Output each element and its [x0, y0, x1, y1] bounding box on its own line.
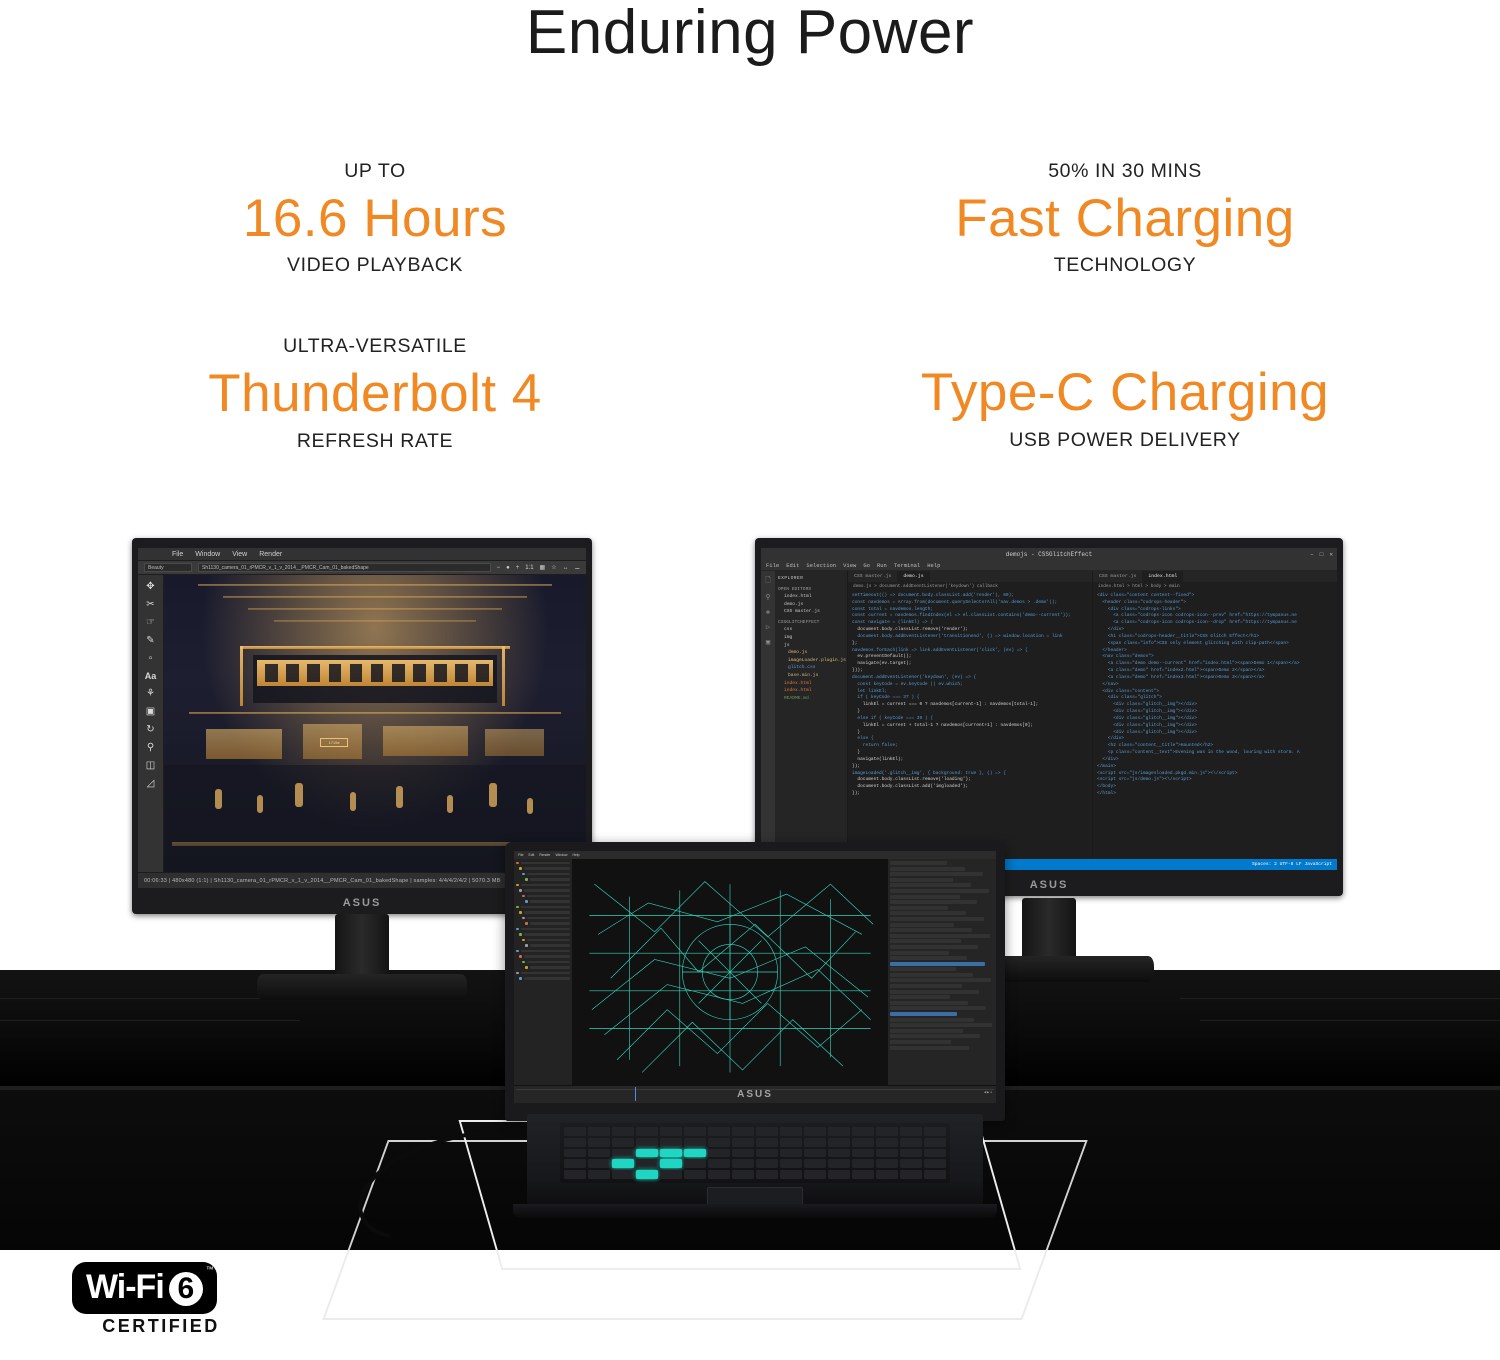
property-row[interactable]: [890, 1034, 980, 1038]
keyboard-key[interactable]: [612, 1138, 634, 1147]
outliner-item[interactable]: [516, 955, 570, 959]
keyboard-key[interactable]: [804, 1149, 826, 1158]
outliner-item[interactable]: [516, 949, 570, 953]
source-control-icon[interactable]: ❖: [766, 608, 770, 617]
outliner-item-label: [527, 895, 571, 898]
code-line: <div class="glitch__img"></div>: [1097, 716, 1333, 723]
grid-icon[interactable]: ▦: [540, 564, 546, 571]
outliner-item[interactable]: [516, 894, 570, 898]
keyboard-key[interactable]: [924, 1159, 946, 1168]
outliner-item[interactable]: [516, 927, 570, 931]
code-line: const navdemos = Array.from(document.que…: [852, 600, 1088, 607]
wifi-generation-number: 6: [169, 1272, 203, 1306]
menu-view[interactable]: View: [232, 551, 247, 558]
keyboard-key[interactable]: [924, 1149, 946, 1158]
text-tool-icon[interactable]: Aa: [145, 671, 157, 681]
property-row[interactable]: [890, 934, 990, 938]
outliner-item[interactable]: [516, 933, 570, 937]
property-row[interactable]: [890, 1040, 951, 1044]
outliner-item[interactable]: [516, 883, 570, 887]
explorer-open-item[interactable]: demo.js: [778, 601, 844, 609]
explorer-open-item[interactable]: index.html: [778, 593, 844, 601]
keyboard-key[interactable]: [660, 1159, 682, 1168]
keyboard-key[interactable]: [612, 1159, 634, 1168]
property-row[interactable]: [890, 928, 972, 932]
outliner-item[interactable]: [516, 960, 570, 964]
3d-app-menubar[interactable]: File Edit Render Window Help: [514, 851, 996, 859]
feature-battery-life: UP TO 16.6 Hours VIDEO PLAYBACK: [0, 160, 750, 277]
property-row[interactable]: [890, 883, 971, 887]
feature-battery-life-bottomlabel: VIDEO PLAYBACK: [0, 254, 750, 277]
keyboard-key[interactable]: [900, 1127, 922, 1136]
plus-icon[interactable]: +: [516, 565, 520, 571]
keyboard-key[interactable]: [636, 1127, 658, 1136]
editor-tabs-left[interactable]: CSS master.js demo.js: [848, 571, 1092, 582]
property-row[interactable]: [890, 945, 978, 949]
keyboard-key[interactable]: [732, 1138, 754, 1147]
feature-thunderbolt: ULTRA-VERSATILE Thunderbolt 4 REFRESH RA…: [0, 335, 750, 452]
outliner-item[interactable]: [516, 977, 570, 981]
laptop-lid: File Edit Render Window Help: [505, 842, 1005, 1121]
editor-pane-right[interactable]: CSS master.js index.html index.html > ht…: [1092, 571, 1337, 859]
minimize-icon[interactable]: –: [1310, 551, 1314, 558]
menu-file[interactable]: File: [518, 853, 523, 857]
keyboard-key[interactable]: [756, 1149, 778, 1158]
tab-css-master-2[interactable]: CSS master.js: [1093, 571, 1142, 582]
keyboard-key[interactable]: [756, 1127, 778, 1136]
menu-edit[interactable]: Edit: [786, 562, 799, 569]
explorer-file[interactable]: base.min.js: [778, 672, 844, 680]
keyboard-key[interactable]: [756, 1159, 778, 1168]
keyboard-key[interactable]: [732, 1149, 754, 1158]
property-row[interactable]: [890, 906, 948, 910]
keyboard-key[interactable]: [732, 1159, 754, 1168]
menu-window[interactable]: Window: [555, 853, 567, 857]
property-row[interactable]: [890, 1023, 992, 1027]
property-row[interactable]: [890, 956, 967, 960]
explorer-file[interactable]: index.html: [778, 687, 844, 695]
keyboard-row: [564, 1170, 946, 1179]
feature-battery-life-headline: 16.6 Hours: [0, 189, 750, 248]
keyboard-key[interactable]: [684, 1127, 706, 1136]
outliner-item-label: [521, 972, 571, 975]
keyboard-key[interactable]: [924, 1138, 946, 1147]
photo-editor-canvas[interactable]: 1715e: [164, 575, 586, 872]
outliner-item[interactable]: [516, 861, 570, 865]
outliner-item-icon: [525, 922, 528, 925]
keyboard-key[interactable]: [852, 1138, 874, 1147]
outliner-item[interactable]: [516, 900, 570, 904]
property-row[interactable]: [890, 923, 954, 927]
keyboard-key[interactable]: [588, 1170, 610, 1179]
property-row[interactable]: [890, 895, 960, 899]
channel-selector[interactable]: Beauty: [144, 563, 192, 572]
keyboard-key[interactable]: [780, 1159, 802, 1168]
star-icon[interactable]: ☆: [551, 564, 556, 571]
keyboard-key[interactable]: [828, 1170, 850, 1179]
photo-editor-menubar[interactable]: File Window View Render: [138, 548, 586, 561]
keyboard-key[interactable]: [564, 1170, 586, 1179]
menu-terminal[interactable]: Terminal: [894, 562, 920, 569]
outliner-item[interactable]: [516, 944, 570, 948]
keyboard-key[interactable]: [900, 1138, 922, 1147]
circle-icon[interactable]: ●: [506, 565, 510, 571]
keyboard-key[interactable]: [588, 1127, 610, 1136]
keyboard-key[interactable]: [900, 1149, 922, 1158]
keyboard-row: [564, 1138, 946, 1147]
property-row[interactable]: [890, 962, 985, 966]
menu-go[interactable]: Go: [863, 562, 870, 569]
feature-fast-charging-toplabel: 50% IN 30 MINS: [750, 160, 1500, 183]
photo-editor-toolbox[interactable]: ✥ ✂ ☞ ✎ ▫ Aa ⚘ ▣ ↻ ⚲ ◫ ◿: [138, 575, 164, 872]
keyboard-key[interactable]: [660, 1170, 682, 1179]
outliner-item-icon: [522, 939, 525, 942]
minus-icon[interactable]: −: [497, 565, 501, 571]
explorer-file[interactable]: css: [778, 626, 844, 634]
menu-help[interactable]: Help: [573, 853, 580, 857]
property-row[interactable]: [890, 978, 991, 982]
close-icon[interactable]: ✕: [1329, 551, 1333, 558]
menu-view[interactable]: View: [843, 562, 856, 569]
keyboard-key[interactable]: [732, 1127, 754, 1136]
laptop-screen: File Edit Render Window Help: [514, 851, 996, 1103]
keyboard-key[interactable]: [588, 1138, 610, 1147]
keyboard-key[interactable]: [636, 1159, 658, 1168]
menu-render[interactable]: Render: [259, 551, 282, 558]
outliner-item-icon: [522, 873, 525, 876]
code-line: </main>: [1097, 764, 1333, 771]
outliner-item[interactable]: [516, 971, 570, 975]
property-row[interactable]: [890, 900, 977, 904]
left-monitor-brand: ASUS: [343, 897, 382, 909]
keyboard-key[interactable]: [684, 1149, 706, 1158]
menu-selection[interactable]: Selection: [806, 562, 836, 569]
extensions-icon[interactable]: ▣: [766, 638, 770, 647]
explorer-file[interactable]: img: [778, 634, 844, 642]
keyboard-key[interactable]: [828, 1149, 850, 1158]
property-row[interactable]: [890, 939, 961, 943]
code-editor-app: demojs - CSSGlitchEffect – □ ✕ File Edit…: [761, 548, 1337, 870]
outliner-item[interactable]: [516, 889, 570, 893]
maximize-icon[interactable]: □: [1320, 551, 1324, 558]
menu-run[interactable]: Run: [877, 562, 887, 569]
code-editor-body: 🗋 ⚲ ❖ ▷ ▣ EXPLORER OPEN EDITORS index.ht…: [761, 571, 1337, 859]
desk-detail-line: [0, 1020, 300, 1021]
keyboard-key[interactable]: [660, 1138, 682, 1147]
code-line: <script src="js/demo.js"><\/script>: [1097, 777, 1333, 784]
editor-tabs-right[interactable]: CSS master.js index.html: [1093, 571, 1337, 582]
keyboard-key[interactable]: [756, 1170, 778, 1179]
desk-detail-line: [1180, 998, 1500, 999]
outliner-item[interactable]: [516, 867, 570, 871]
zoom-tool-icon[interactable]: ⚲: [147, 742, 154, 753]
code-editor-menubar[interactable]: File Edit Selection View Go Run Terminal…: [761, 560, 1337, 571]
keyboard-key[interactable]: [780, 1149, 802, 1158]
crop-tool-icon[interactable]: ✂: [146, 599, 154, 610]
eyedropper-tool-icon[interactable]: ⚘: [146, 688, 155, 699]
explorer-file[interactable]: glitch.css: [778, 664, 844, 672]
property-row[interactable]: [890, 1001, 968, 1005]
eraser-tool-icon[interactable]: ▫: [149, 653, 153, 664]
feature-battery-life-toplabel: UP TO: [0, 160, 750, 183]
keyboard-key[interactable]: [588, 1149, 610, 1158]
code-line: </div>: [1097, 627, 1333, 634]
keyboard-key[interactable]: [804, 1159, 826, 1168]
outliner-item-icon: [519, 977, 522, 980]
outliner-item-icon: [516, 950, 519, 953]
keyboard-key[interactable]: [924, 1170, 946, 1179]
move-tool-icon[interactable]: ✥: [146, 581, 154, 592]
keyboard-key[interactable]: [684, 1138, 706, 1147]
code-line: linkEl = current + total-1 ? navdemos[cu…: [852, 723, 1088, 730]
keyboard-key[interactable]: [708, 1159, 730, 1168]
keyboard-key[interactable]: [852, 1127, 874, 1136]
code-line: <div class="content content--fixed">: [1097, 593, 1333, 600]
editor-pane-left[interactable]: CSS master.js demo.js demo.js > document…: [847, 571, 1092, 859]
keyboard-key[interactable]: [564, 1149, 586, 1158]
keyboard-key[interactable]: [684, 1159, 706, 1168]
code-line: </html>: [1097, 791, 1333, 798]
explorer-file[interactable]: imageLoader.plugin.js: [778, 657, 844, 665]
keyboard-key[interactable]: [804, 1138, 826, 1147]
code-line: <div class="glitch__img"></div>: [1097, 709, 1333, 716]
keyboard-key[interactable]: [780, 1170, 802, 1179]
outliner-item[interactable]: [516, 905, 570, 909]
keyboard-key[interactable]: [852, 1149, 874, 1158]
property-row[interactable]: [890, 1006, 986, 1010]
outliner-item-label: [530, 922, 571, 925]
property-row[interactable]: [890, 1029, 963, 1033]
keyboard-key[interactable]: [900, 1170, 922, 1179]
outliner-item-icon: [516, 884, 519, 887]
slider-icon[interactable]: ⚊: [575, 564, 580, 571]
outliner-item[interactable]: [516, 916, 570, 920]
3d-app-viewport[interactable]: [572, 859, 888, 1085]
keyboard-key[interactable]: [804, 1127, 826, 1136]
arrow-icon[interactable]: ↔: [563, 565, 569, 571]
outliner-item-label: [524, 911, 571, 914]
keyboard-key[interactable]: [636, 1138, 658, 1147]
keyboard-key[interactable]: [876, 1149, 898, 1158]
explorer-file[interactable]: index.html: [778, 680, 844, 688]
menu-edit[interactable]: Edit: [528, 853, 534, 857]
photo-editor-toolbar[interactable]: Beauty Sh1130_camera_01_rPMCR_v_1_v_2014…: [138, 561, 586, 575]
keyboard-key[interactable]: [708, 1170, 730, 1179]
keyboard-key[interactable]: [636, 1170, 658, 1179]
outliner-item-label: [524, 955, 571, 958]
explorer-open-item[interactable]: CSS master.js: [778, 608, 844, 616]
property-row[interactable]: [890, 889, 989, 893]
code-line: };: [852, 641, 1088, 648]
keyboard-key[interactable]: [876, 1127, 898, 1136]
keyboard-key[interactable]: [564, 1159, 586, 1168]
outliner-item-label: [530, 966, 571, 969]
feature-thunderbolt-bottomlabel: REFRESH RATE: [0, 430, 750, 453]
property-row[interactable]: [890, 878, 953, 882]
feature-grid: UP TO 16.6 Hours VIDEO PLAYBACK 50% IN 3…: [0, 160, 1500, 453]
keyboard-key[interactable]: [660, 1127, 682, 1136]
menu-window[interactable]: Window: [195, 551, 220, 558]
code-line: document.addEventListener('keydown', (ev…: [852, 675, 1088, 682]
outliner-item-icon: [516, 928, 519, 931]
property-row[interactable]: [890, 861, 947, 865]
outliner-item-label: [530, 878, 571, 881]
code-line: <a class="demo" href="index3.html"><span…: [1097, 675, 1333, 682]
tab-demo-js[interactable]: demo.js: [897, 571, 929, 582]
layer-path-field[interactable]: Sh1130_camera_01_rPMCR_v_1_v_2014__PMCR_…: [198, 563, 491, 572]
keyboard-key[interactable]: [612, 1170, 634, 1179]
keyboard-key[interactable]: [756, 1138, 778, 1147]
keyboard-key[interactable]: [732, 1170, 754, 1179]
outliner-item-icon: [519, 955, 522, 958]
keyboard-key[interactable]: [852, 1170, 874, 1179]
keyboard-key[interactable]: [852, 1159, 874, 1168]
keyboard-key[interactable]: [708, 1149, 730, 1158]
code-line: }: [852, 730, 1088, 737]
code-content-right[interactable]: <div class="content content--fixed"> <he…: [1093, 591, 1337, 798]
right-monitor-screen: demojs - CSSGlitchEffect – □ ✕ File Edit…: [761, 548, 1337, 870]
keyboard-key[interactable]: [612, 1127, 634, 1136]
left-monitor-screen: File Window View Render Beauty Sh1130_ca…: [138, 548, 586, 888]
property-row[interactable]: [890, 867, 965, 871]
tab-css-master[interactable]: CSS master.js: [848, 571, 897, 582]
keyboard-key[interactable]: [804, 1170, 826, 1179]
keyboard-key[interactable]: [900, 1159, 922, 1168]
keyboard-key[interactable]: [924, 1127, 946, 1136]
window-controls[interactable]: – □ ✕: [1310, 551, 1333, 558]
wifi6-pill: Wi-Fi 6 ™: [72, 1262, 217, 1314]
keyboard-row: [564, 1149, 946, 1158]
brush-tool-icon[interactable]: ✎: [146, 635, 154, 646]
property-row[interactable]: [890, 973, 973, 977]
explorer-file[interactable]: demo.js: [778, 649, 844, 657]
explorer-section-project[interactable]: CSSGLITCHEFFECT: [778, 619, 844, 627]
keyboard-key[interactable]: [876, 1159, 898, 1168]
property-row[interactable]: [890, 1018, 974, 1022]
outliner-item[interactable]: [516, 911, 570, 915]
property-row[interactable]: [890, 984, 962, 988]
outliner-item-icon: [525, 900, 528, 903]
code-line: <span class="info">CSS only element glit…: [1097, 641, 1333, 648]
property-row[interactable]: [890, 911, 966, 915]
explorer-file[interactable]: README.md: [778, 695, 844, 703]
outliner-item-label: [524, 889, 571, 892]
outliner-item-label: [527, 961, 571, 964]
outliner-item-icon: [519, 911, 522, 914]
rotate-tool-icon[interactable]: ↻: [146, 724, 154, 735]
outliner-item-icon: [516, 972, 519, 975]
keyboard-row: [564, 1127, 946, 1136]
keyboard-key[interactable]: [564, 1138, 586, 1147]
code-line: document.body.classList.add('imgloaded')…: [852, 784, 1088, 791]
breadcrumb-right: index.html > html > body > main: [1093, 582, 1337, 591]
explorer-section-open-editors[interactable]: OPEN EDITORS: [778, 586, 844, 594]
keyboard-key[interactable]: [828, 1159, 850, 1168]
menu-help[interactable]: Help: [927, 562, 940, 569]
activity-bar[interactable]: 🗋 ⚲ ❖ ▷ ▣: [761, 571, 775, 859]
property-row[interactable]: [890, 1012, 957, 1016]
search-icon[interactable]: ⚲: [765, 593, 770, 602]
outliner-item-icon: [522, 895, 525, 898]
code-line: navigate(ev.target);: [852, 661, 1088, 668]
hand-tool-icon[interactable]: ☞: [146, 617, 155, 628]
keyboard-key[interactable]: [876, 1138, 898, 1147]
outliner-item[interactable]: [516, 938, 570, 942]
status-editor-info[interactable]: Spaces: 2 UTF-8 LF JavaScript: [1252, 862, 1332, 867]
outliner-item[interactable]: [516, 872, 570, 876]
menu-file[interactable]: File: [766, 562, 779, 569]
explorer-file[interactable]: js: [778, 642, 844, 650]
outliner-item-label: [521, 884, 571, 887]
keyboard-key[interactable]: [660, 1149, 682, 1158]
property-row[interactable]: [890, 917, 984, 921]
outliner-item[interactable]: [516, 922, 570, 926]
keyboard-key[interactable]: [588, 1159, 610, 1168]
keyboard-key[interactable]: [780, 1138, 802, 1147]
files-icon[interactable]: 🗋: [765, 576, 771, 587]
path-tool-icon[interactable]: ◿: [147, 778, 155, 789]
gradient-tool-icon[interactable]: ◫: [146, 760, 155, 771]
power-cable: [330, 1120, 560, 1240]
zoom-level[interactable]: 1:1: [525, 565, 533, 571]
keyboard-key[interactable]: [708, 1127, 730, 1136]
outliner-item[interactable]: [516, 966, 570, 970]
keyboard-key[interactable]: [564, 1127, 586, 1136]
code-line: <div class="glitch__img"></div>: [1097, 723, 1333, 730]
keyboard-key[interactable]: [828, 1138, 850, 1147]
outliner-item-icon: [525, 944, 528, 947]
keyboard-key[interactable]: [876, 1170, 898, 1179]
3d-app-outliner[interactable]: [514, 859, 572, 1085]
debug-icon[interactable]: ▷: [766, 623, 770, 632]
code-line: <div class="glitch__img"></div>: [1097, 730, 1333, 737]
code-line: linkEl = current === 0 ? navdemos[curren…: [852, 702, 1088, 709]
shape-tool-icon[interactable]: ▣: [146, 706, 155, 717]
keyboard-key[interactable]: [636, 1149, 658, 1158]
property-row[interactable]: [890, 951, 949, 955]
menu-render[interactable]: Render: [539, 853, 550, 857]
code-editor-window-title: demojs - CSSGlitchEffect: [1006, 551, 1092, 558]
feature-typec-charging-toplabel: [750, 335, 1500, 357]
code-line: else if ( keyCode === 39 ) {: [852, 716, 1088, 723]
outliner-item-label: [521, 906, 571, 909]
left-monitor-base: [257, 974, 467, 1000]
keyboard-key[interactable]: [684, 1170, 706, 1179]
property-row[interactable]: [890, 1046, 969, 1050]
keyboard-key[interactable]: [828, 1127, 850, 1136]
laptop-keyboard[interactable]: [560, 1123, 950, 1183]
keyboard-key[interactable]: [780, 1127, 802, 1136]
code-content-left[interactable]: setTimeout(() => document.body.classList…: [848, 591, 1092, 798]
keyboard-key[interactable]: [708, 1138, 730, 1147]
property-row[interactable]: [890, 990, 979, 994]
explorer-panel[interactable]: EXPLORER OPEN EDITORS index.html demo.js…: [775, 571, 847, 859]
tab-index-html[interactable]: index.html: [1142, 571, 1183, 582]
outliner-item[interactable]: [516, 878, 570, 882]
code-line: document.body.addEventListener('transiti…: [852, 634, 1088, 641]
3d-app-properties[interactable]: [888, 859, 996, 1085]
property-row[interactable]: [890, 967, 956, 971]
laptop-brand: ASUS: [737, 1089, 773, 1100]
outliner-item-icon: [522, 917, 525, 920]
feature-thunderbolt-toplabel: ULTRA-VERSATILE: [0, 335, 750, 358]
property-row[interactable]: [890, 995, 950, 999]
code-line: <a class="demo" href="index2.html"><span…: [1097, 668, 1333, 675]
menu-file[interactable]: File: [172, 551, 183, 558]
keyboard-key[interactable]: [612, 1149, 634, 1158]
page-title: Enduring Power: [0, 0, 1500, 65]
property-row[interactable]: [890, 872, 983, 876]
